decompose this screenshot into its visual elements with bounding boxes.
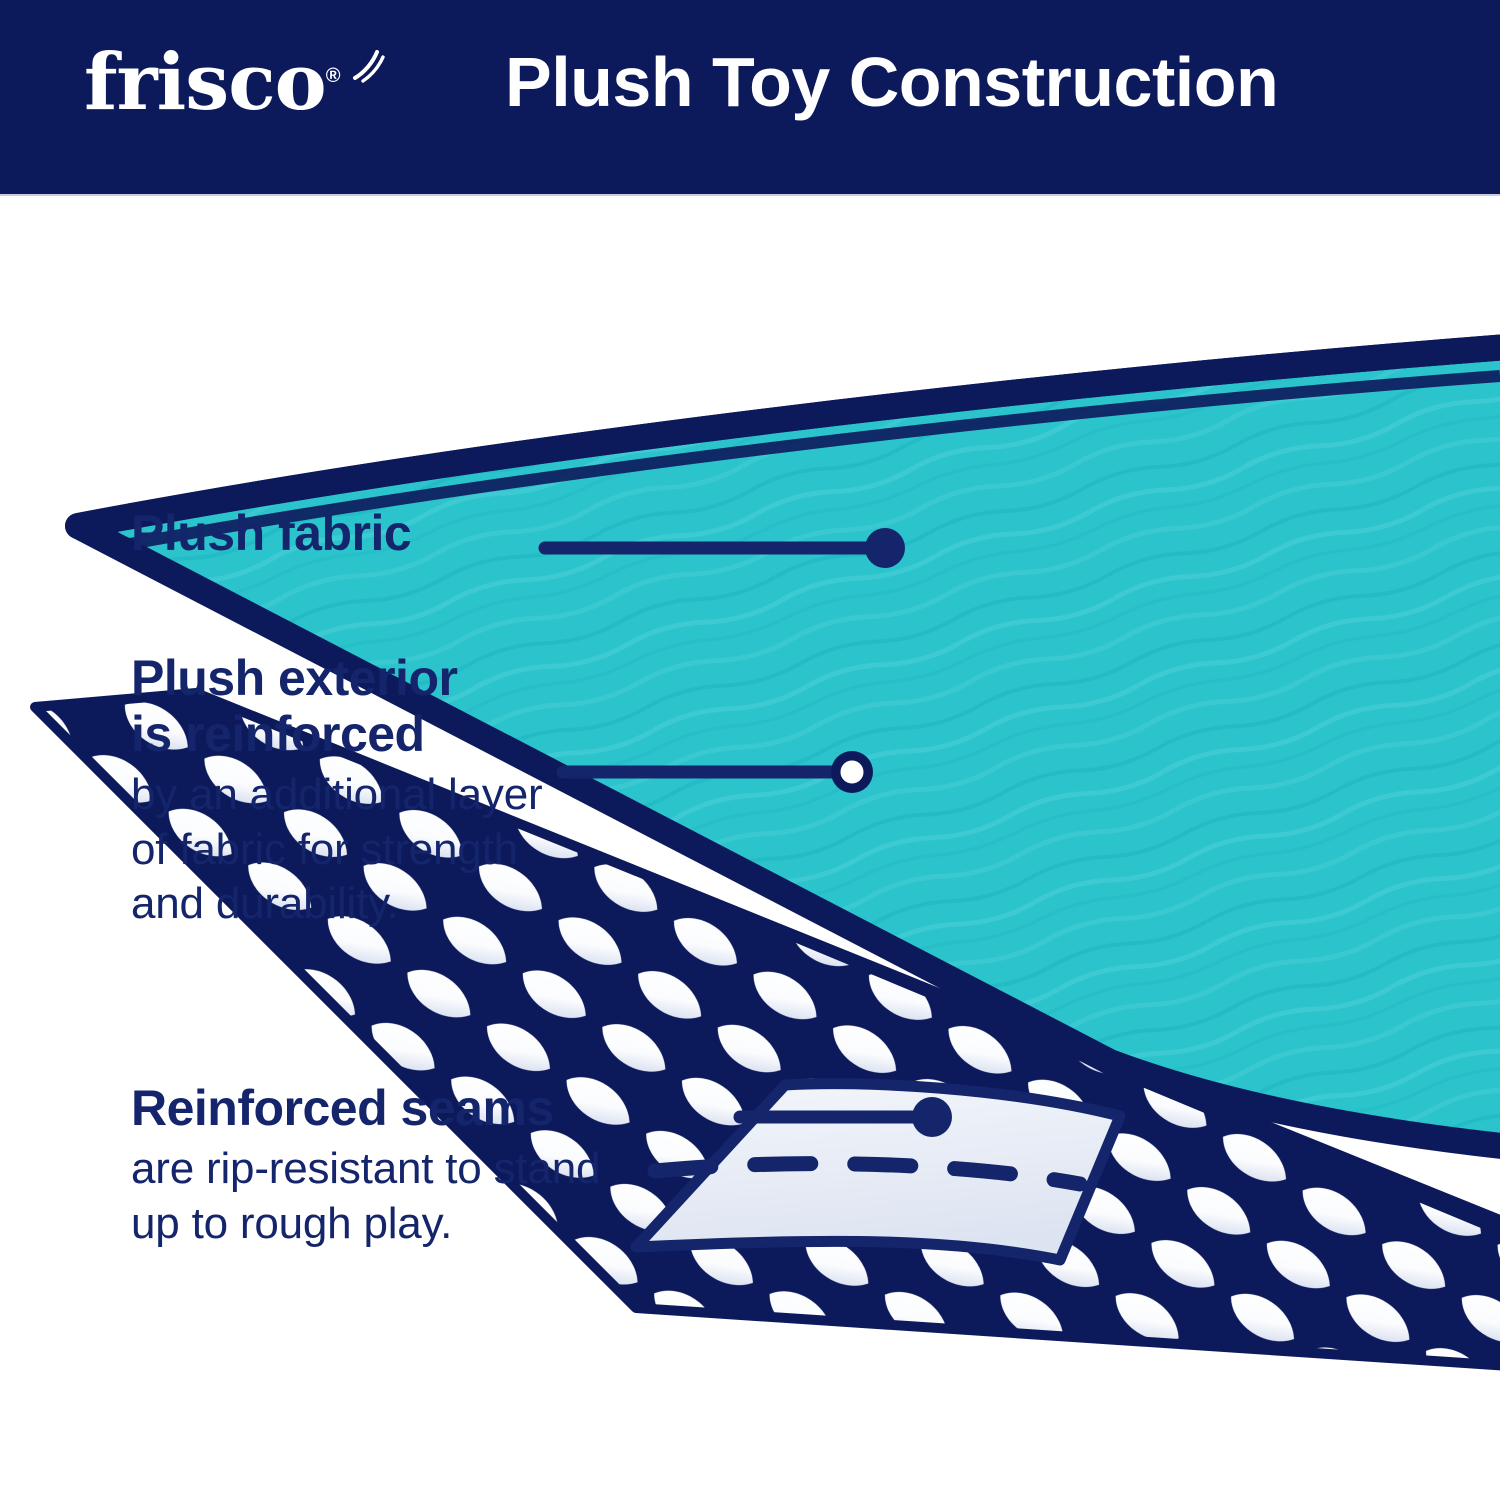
infographic-page: frisco® Plush Toy Construction <box>0 0 1500 1500</box>
logo-swoosh-icon <box>349 48 389 88</box>
frisco-wordmark: frisco <box>84 37 326 128</box>
callout-body-reinforced-seams: are rip-resistant to stand up to rough p… <box>131 1142 600 1251</box>
callout-reinforced-seams: Reinforced seams are rip-resistant to st… <box>131 1080 600 1251</box>
header-bar: frisco® Plush Toy Construction <box>0 0 1500 196</box>
registered-mark: ® <box>326 65 340 87</box>
callout-heading-plush-fabric: Plush fabric <box>131 505 411 561</box>
callout-plush-exterior: Plush exterior is reinforced by an addit… <box>131 650 542 932</box>
page-title: Plush Toy Construction <box>505 47 1278 117</box>
callout-heading-plush-exterior: Plush exterior is reinforced <box>131 650 542 762</box>
marker-dot-reinforced-seams <box>912 1097 952 1137</box>
frisco-logo: frisco® <box>84 44 339 122</box>
callout-heading-reinforced-seams: Reinforced seams <box>131 1080 600 1136</box>
callout-body-plush-exterior: by an additional layer of fabric for str… <box>131 768 542 932</box>
marker-dot-plush-fabric <box>865 528 905 568</box>
callout-plush-fabric: Plush fabric <box>131 505 411 561</box>
